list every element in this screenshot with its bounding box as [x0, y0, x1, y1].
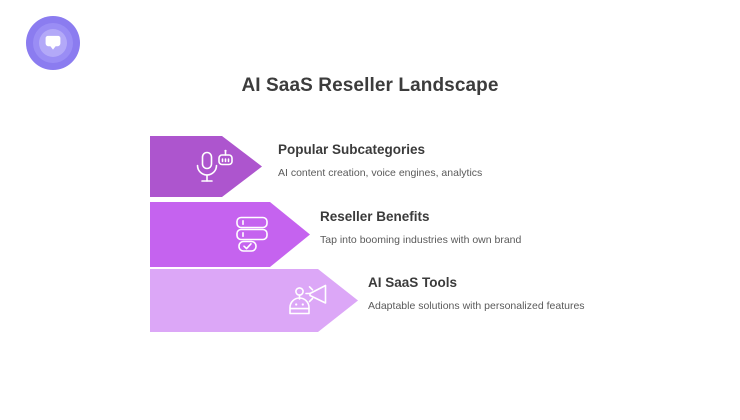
row-2-heading: Reseller Benefits [320, 209, 521, 225]
logo-ring-mid [33, 23, 73, 63]
microphone-robot-icon [193, 149, 237, 187]
row-2-subtitle: Tap into booming industries with own bra… [320, 234, 521, 247]
row-3-heading: AI SaaS Tools [368, 275, 585, 291]
checklist-stack-icon [234, 215, 274, 253]
row-2-text: Reseller Benefits Tap into booming indus… [320, 209, 521, 247]
chat-bubble-logo-icon [44, 35, 62, 51]
row-3-text: AI SaaS Tools Adaptable solutions with p… [368, 275, 585, 313]
brand-logo [26, 16, 80, 70]
row-3-subtitle: Adaptable solutions with personalized fe… [368, 300, 585, 313]
logo-ring-inner [39, 29, 67, 57]
chevron-band-2 [150, 202, 310, 272]
page-title: AI SaaS Reseller Landscape [0, 75, 740, 97]
robot-megaphone-icon [288, 283, 334, 323]
row-1-text: Popular Subcategories AI content creatio… [278, 142, 482, 180]
row-1-heading: Popular Subcategories [278, 142, 482, 158]
row-1-subtitle: AI content creation, voice engines, anal… [278, 167, 482, 180]
slide-canvas: AI SaaS Reseller Landscape [0, 0, 740, 420]
